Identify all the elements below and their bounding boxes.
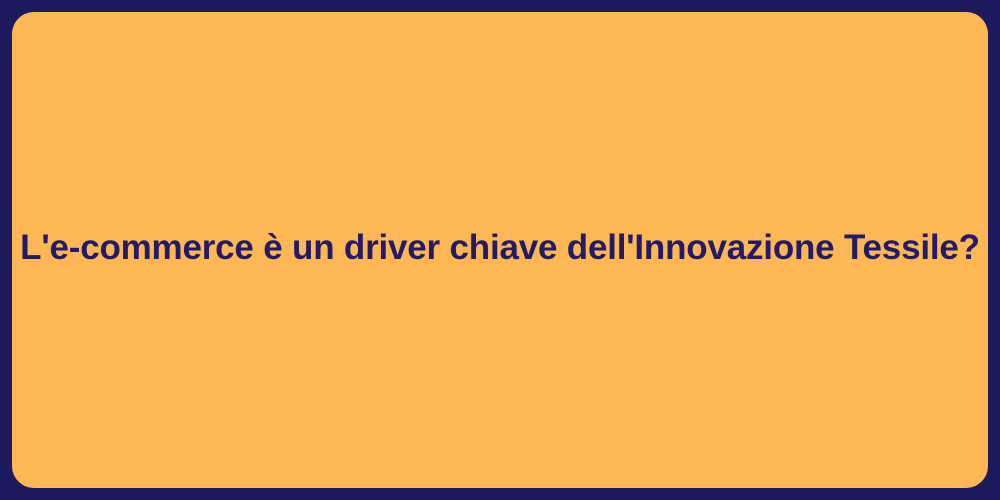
content-card: L'e-commerce è un driver chiave dell'Inn… — [12, 12, 988, 488]
outer-frame: L'e-commerce è un driver chiave dell'Inn… — [0, 0, 1000, 500]
page-title: L'e-commerce è un driver chiave dell'Inn… — [20, 226, 980, 270]
headline-container: L'e-commerce è un driver chiave dell'Inn… — [12, 226, 988, 270]
